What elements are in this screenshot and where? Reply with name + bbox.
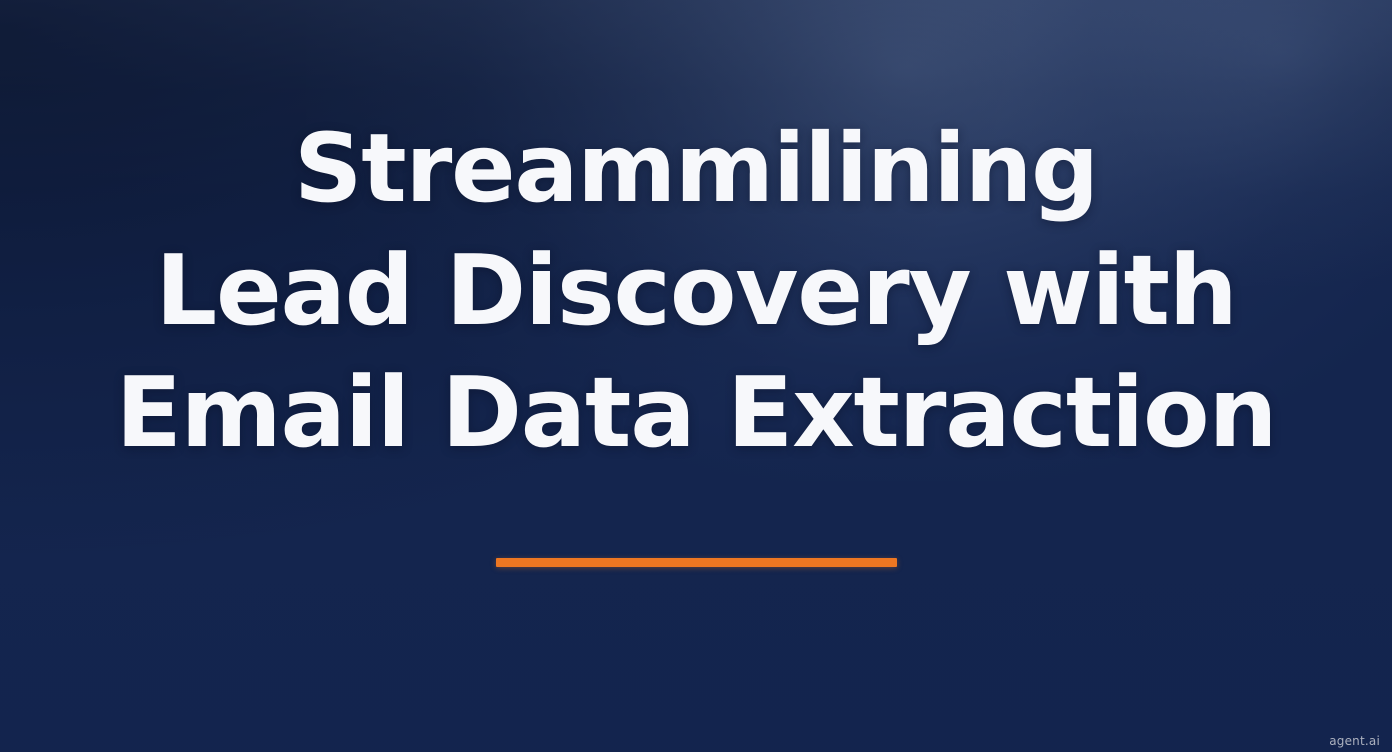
slide-headline: Streammilining Lead Discovery with Email… [116,108,1277,474]
headline-line-2: Lead Discovery with [116,230,1277,352]
title-slide: Streammilining Lead Discovery with Email… [0,0,1392,752]
accent-underline-bar [496,558,897,567]
headline-line-1: Streammilining [116,108,1277,230]
slide-content: Streammilining Lead Discovery with Email… [0,0,1392,752]
headline-line-3: Email Data Extraction [116,352,1277,474]
agent-ai-watermark: agent.ai [1329,734,1380,748]
